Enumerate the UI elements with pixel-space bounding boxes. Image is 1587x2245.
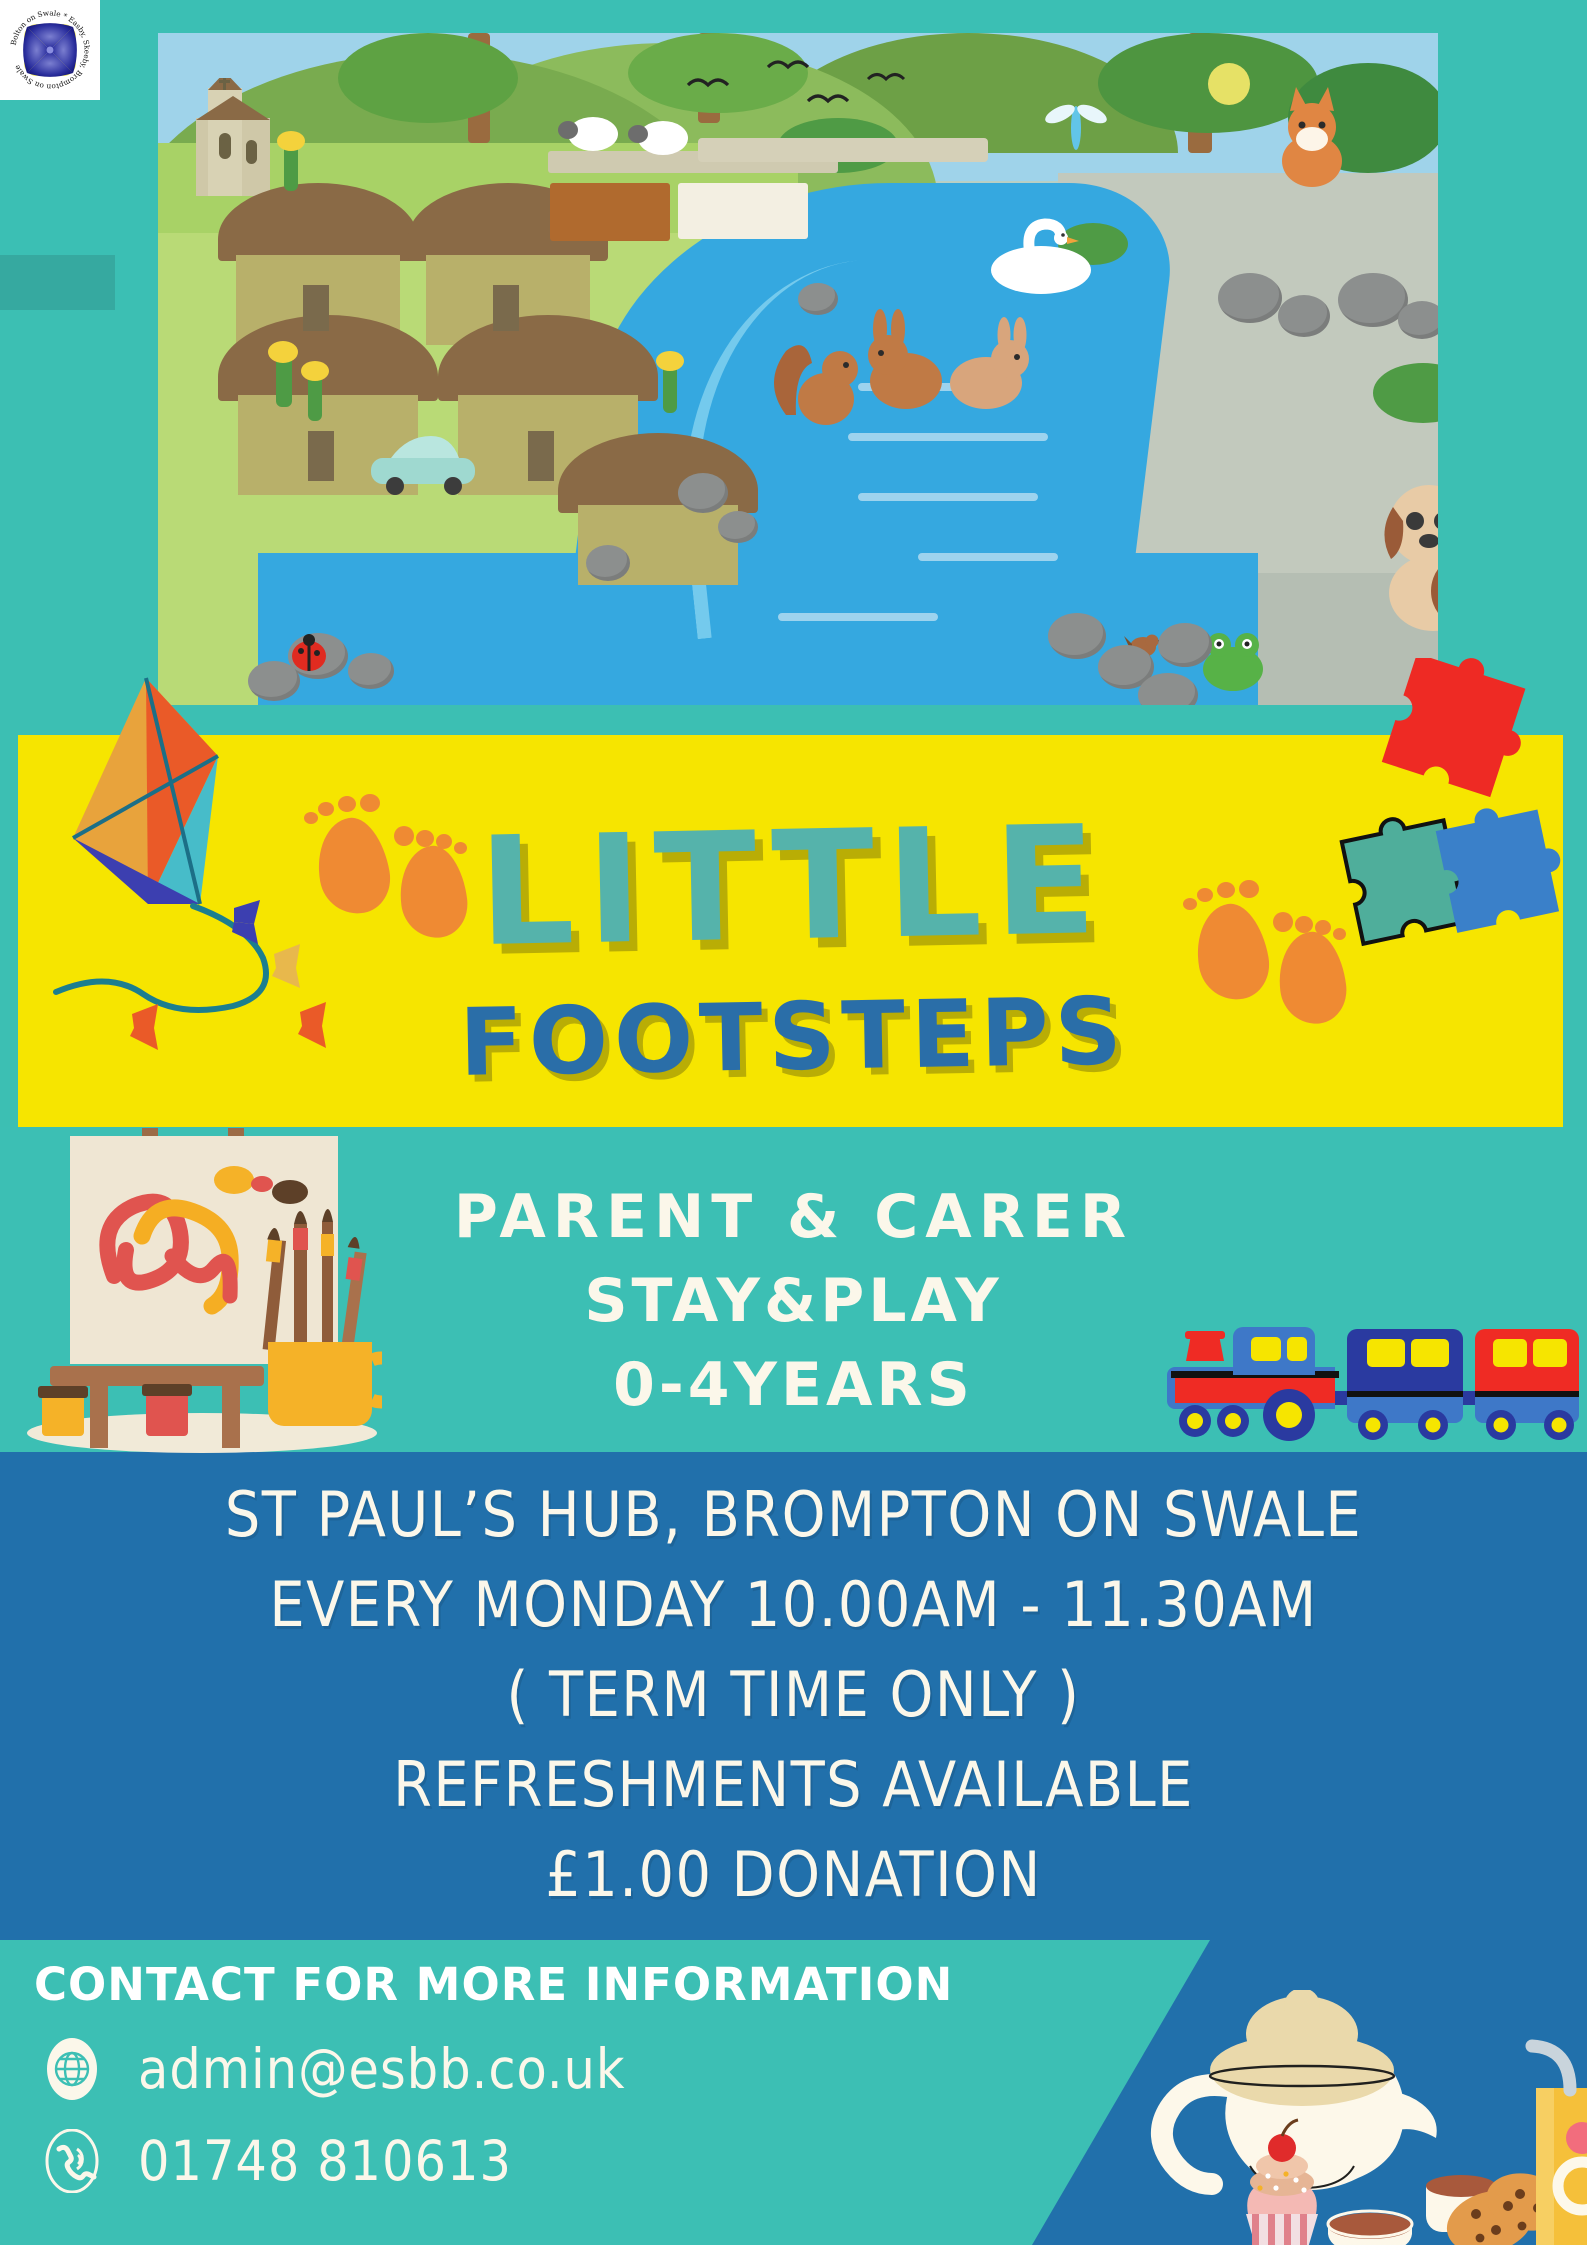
globe-icon xyxy=(44,2036,100,2102)
phone-icon xyxy=(44,2128,100,2194)
puzzle-pieces-illustration xyxy=(1332,658,1587,958)
rabbits-icon xyxy=(858,303,1038,413)
crest-icon: Bolton on Swale * Easby, Skeeby, Brompto… xyxy=(2,2,98,98)
contact-phone: 01748 810613 xyxy=(138,2129,512,2193)
contact-email: admin@esbb.co.uk xyxy=(138,2037,626,2101)
contact-email-row[interactable]: admin@esbb.co.uk xyxy=(44,2036,626,2102)
contact-heading: CONTACT FOR MORE INFORMATION xyxy=(34,1958,953,2011)
details-block: ST PAUL’S HUB, BROMPTON ON SWALE EVERY M… xyxy=(0,1470,1587,1920)
fox-icon xyxy=(1258,83,1368,193)
tea-set-illustration xyxy=(1010,1990,1587,2245)
flying-birds-icon xyxy=(678,55,978,135)
kite-illustration xyxy=(48,676,348,1056)
dog-icon xyxy=(1363,473,1438,633)
car-icon xyxy=(363,428,483,498)
swan-icon xyxy=(983,208,1103,298)
poster-root: Bolton on Swale * Easby, Skeeby, Brompto… xyxy=(0,0,1587,2245)
detail-donation: £1.00 DONATION xyxy=(0,1830,1587,1920)
toy-train-illustration xyxy=(1155,1305,1585,1455)
ladybird-icon xyxy=(284,631,334,677)
detail-term-note: ( TERM TIME ONLY ) xyxy=(0,1650,1587,1740)
parish-crest-logo: Bolton on Swale * Easby, Skeeby, Brompto… xyxy=(0,0,100,100)
contact-phone-row[interactable]: 01748 810613 xyxy=(44,2128,512,2194)
village-river-scene xyxy=(158,33,1438,705)
detail-refreshments: REFRESHMENTS AVAILABLE xyxy=(0,1740,1587,1830)
squirrel-icon xyxy=(768,323,878,433)
detail-schedule: EVERY MONDAY 10.00AM - 11.30AM xyxy=(0,1560,1587,1650)
detail-venue: ST PAUL’S HUB, BROMPTON ON SWALE xyxy=(0,1470,1587,1560)
dragonfly-icon xyxy=(1038,88,1118,158)
teal-accent-block xyxy=(0,255,115,310)
church-icon xyxy=(178,78,288,198)
easel-illustration xyxy=(22,1128,382,1458)
